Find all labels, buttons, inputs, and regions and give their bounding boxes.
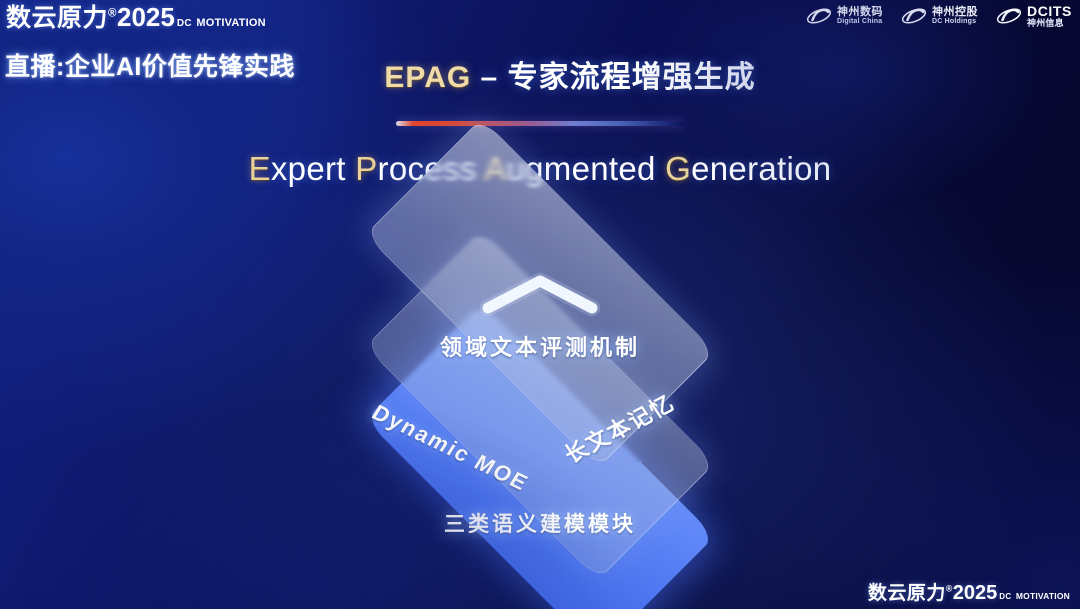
brand-dc-motivation: DC MOTIVATION	[999, 588, 1070, 603]
brand-dc-line1: DC	[999, 592, 1011, 601]
brand-logo-bottom-right: 数云原力® 2025 DC MOTIVATION	[868, 578, 1070, 605]
slide-canvas: 数云原力® 2025 DC MOTIVATION 直播:企业AI价值先锋实践 神…	[0, 0, 1080, 609]
registered-mark-icon: ®	[946, 584, 953, 594]
layered-stack-diagram: 领域文本评测机制 Dynamic MOE 长文本记忆 三类语义建模模块	[0, 0, 1080, 609]
brand-dc-line2: MOTIVATION	[1016, 591, 1070, 601]
chevron-up-icon	[480, 272, 600, 316]
brand-year: 2025	[953, 582, 998, 605]
brand-name-cn: 数云原力®	[868, 578, 953, 605]
